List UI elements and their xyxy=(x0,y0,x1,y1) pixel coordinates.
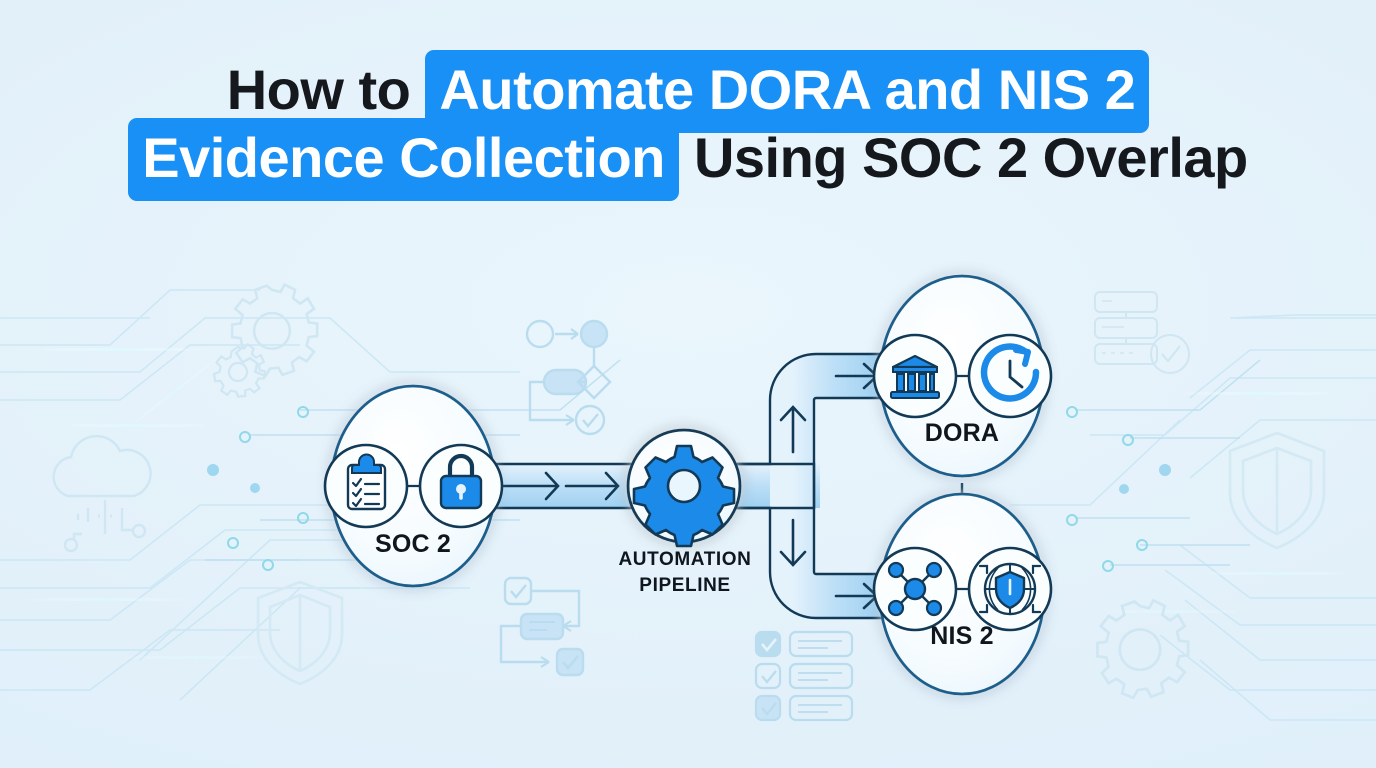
node-label-dora: DORA xyxy=(862,419,1062,448)
title-line-2: Evidence Collection Using SOC 2 Overlap xyxy=(0,130,1376,186)
node-label-automation-pipeline: AUTOMATION PIPELINE xyxy=(565,547,805,598)
title-line-1: How to Automate DORA and NIS 2 xyxy=(0,62,1376,118)
node-automation-pipeline[interactable] xyxy=(628,430,740,546)
shield-globe-icon[interactable] xyxy=(969,548,1051,630)
title-segment-plain: Using SOC 2 Overlap xyxy=(679,126,1248,189)
node-label-nis2: NIS 2 xyxy=(862,622,1062,651)
network-nodes-icon[interactable] xyxy=(874,548,956,630)
infographic-banner: How to Automate DORA and NIS 2 Evidence … xyxy=(0,0,1376,768)
bank-institution-icon[interactable] xyxy=(874,335,956,417)
padlock-icon[interactable] xyxy=(420,445,502,527)
node-label-soc2: SOC 2 xyxy=(313,530,513,559)
page-title: How to Automate DORA and NIS 2 Evidence … xyxy=(0,62,1376,186)
clock-recovery-icon[interactable] xyxy=(969,335,1051,417)
node-nis2[interactable] xyxy=(874,494,1051,694)
title-segment-highlight: Evidence Collection xyxy=(128,118,679,201)
clipboard-checklist-icon[interactable] xyxy=(325,445,407,527)
title-segment-plain: How to xyxy=(227,58,426,121)
